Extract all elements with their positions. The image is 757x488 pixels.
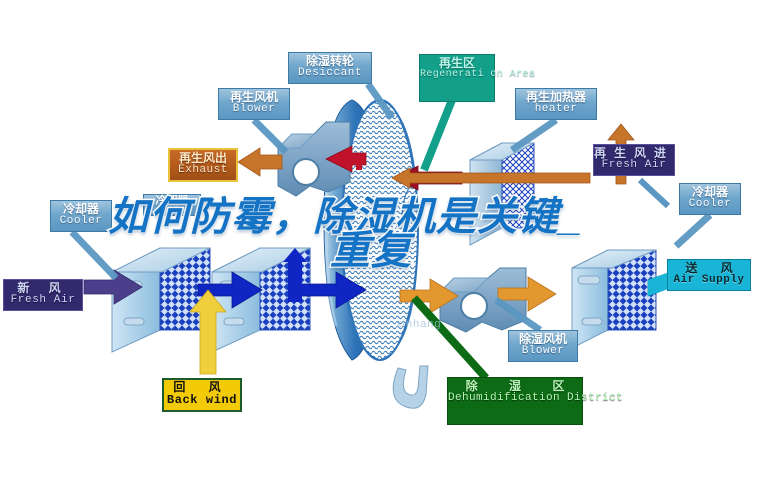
label-process-blower[interactable]: 除湿风机 Blower [508,330,578,362]
label-process-blower-cn: 除湿风机 [509,333,577,346]
label-air-supply[interactable]: 送 风 Air Supply [667,259,751,291]
label-dehumidification-district[interactable]: 除 湿 区 Dehumidification District [447,377,583,425]
headline-overlay: 如何防霉，除湿机是关键_ 重复 [108,198,668,271]
schematic-canvas: 再生风机 Blower 除湿转轮 Desiccant 再生区 Regenerat… [0,0,757,488]
label-regen-blower-en: Blower [219,104,289,116]
label-regeneration-area-en: Regenerati on Area [420,70,494,81]
label-cooler-right[interactable]: 冷却器 Cooler [679,183,741,215]
label-fresh-air-regen[interactable]: 再生风进 Fresh Air [593,144,675,176]
label-exhaust[interactable]: 再生风出 Exhaust [168,148,238,182]
exhaust-arrow [238,148,282,176]
label-fresh-air-process-cn: 新 风 [4,282,82,295]
label-regen-heater-en: heater [516,104,596,116]
label-back-wind-en: Back wind [164,394,240,407]
label-dehumid-en: Dehumidification District [448,393,582,405]
label-fresh-air-process-en: Fresh Air [4,295,82,307]
label-back-wind-cn: 回 风 [164,381,240,394]
label-desiccant-rotor[interactable]: 除湿转轮 Desiccant [288,52,372,84]
label-regen-blower-cn: 再生风机 [219,91,289,104]
label-process-blower-en: Blower [509,346,577,358]
label-regen-heater[interactable]: 再生加热器 heater [515,88,597,120]
label-air-supply-en: Air Supply [668,275,750,287]
source-watermark: xinhang [396,318,442,330]
label-exhaust-cn: 再生风出 [170,152,236,165]
label-regeneration-area[interactable]: 再生区 Regenerati on Area [419,54,495,102]
label-regen-heater-cn: 再生加热器 [516,91,596,104]
label-cooler-left[interactable]: 冷却器 Cooler [50,200,112,232]
label-fresh-air-regen-cn: 再生风进 [594,147,674,160]
label-fresh-air-process[interactable]: 新 风 Fresh Air [3,279,83,311]
label-fresh-air-regen-en: Fresh Air [594,160,674,172]
label-desiccant-rotor-cn: 除湿转轮 [289,55,371,68]
label-cooler-left-en: Cooler [51,216,111,228]
leader-line-regeneration [424,100,452,170]
label-regen-blower[interactable]: 再生风机 Blower [218,88,290,120]
label-cooler-right-cn: 冷却器 [680,186,740,199]
label-air-supply-cn: 送 风 [668,262,750,275]
label-desiccant-rotor-en: Desiccant [289,68,371,80]
label-back-wind[interactable]: 回 风 Back wind [162,378,242,412]
label-cooler-right-en: Cooler [680,199,740,211]
label-cooler-left-cn: 冷却器 [51,203,111,216]
label-dehumid-cn: 除 湿 区 [448,380,582,393]
label-exhaust-en: Exhaust [170,165,236,177]
label-regeneration-area-cn: 再生区 [420,57,494,70]
